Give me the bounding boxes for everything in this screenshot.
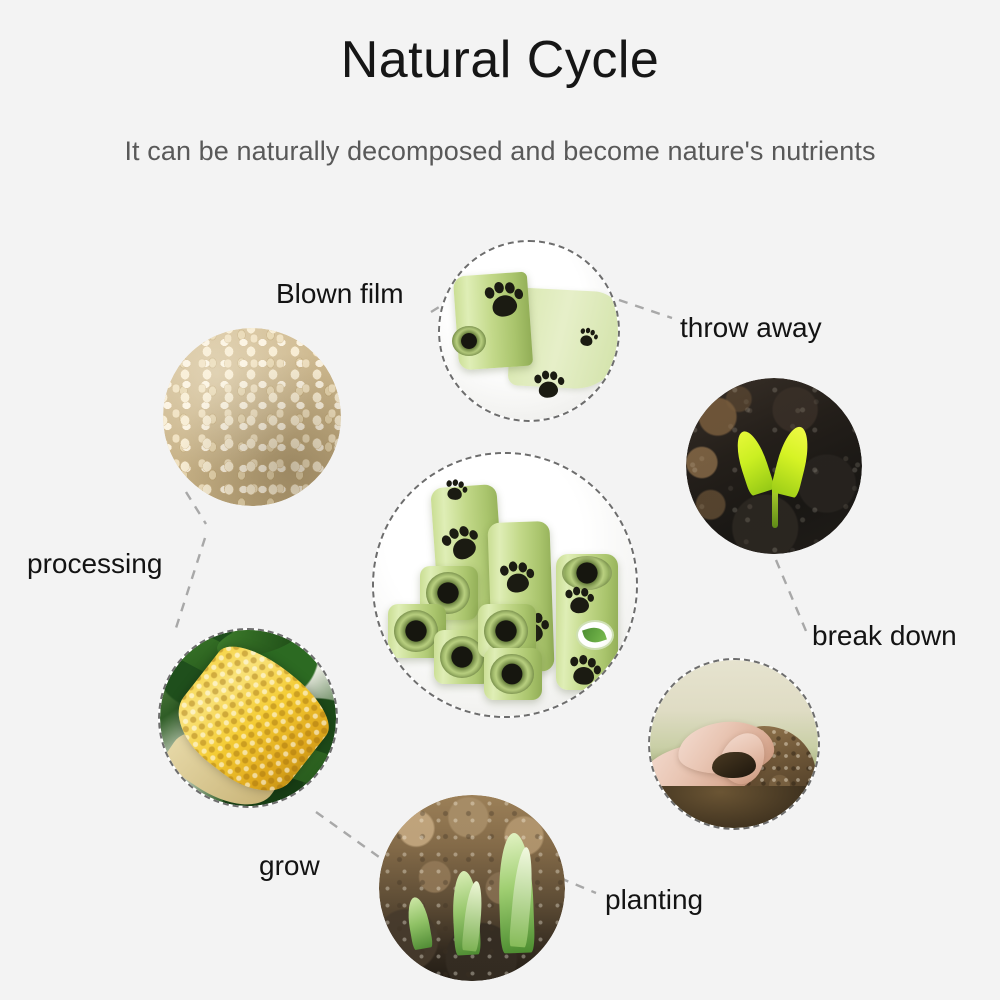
bag-roll-end	[562, 556, 612, 590]
node-blown-film-image[interactable]	[438, 240, 620, 422]
label-blown-film: Blown film	[276, 278, 404, 310]
pellets-photo	[163, 328, 341, 506]
bag-roll-end	[394, 610, 438, 652]
connector-node-to-planting-label	[560, 878, 596, 893]
node-break-down-image[interactable]	[648, 658, 820, 830]
grow-photo	[160, 630, 336, 806]
connector-throwaway-to-breakdown	[776, 560, 806, 631]
blown-film-photo	[440, 242, 618, 420]
label-break-down: break down	[812, 620, 957, 652]
soil-bed	[650, 786, 818, 828]
bag-roll-end	[484, 610, 528, 652]
node-grow-image[interactable]	[158, 628, 338, 808]
bag-roll-end	[452, 326, 486, 356]
page-title: Natural Cycle	[0, 32, 1000, 89]
eco-biodegradable-badge-icon	[576, 620, 614, 650]
connector-processing-to-corn	[176, 538, 205, 628]
label-grow: grow	[259, 850, 320, 882]
node-processing-image[interactable]	[163, 328, 341, 506]
node-planting-image[interactable]	[379, 795, 565, 981]
leaf-icon	[582, 624, 607, 646]
page-subtitle: It can be naturally decomposed and becom…	[0, 136, 1000, 167]
resin-pellets-texture	[163, 328, 341, 506]
connector-node-to-throwaway	[619, 300, 672, 318]
label-throw-away: throw away	[680, 312, 822, 344]
label-planting: planting	[605, 884, 703, 916]
planting-photo	[379, 795, 565, 981]
break-down-photo	[650, 660, 818, 828]
label-processing: processing	[27, 548, 162, 580]
connector-grow-to-planting	[316, 812, 386, 862]
node-center-product-image[interactable]	[372, 452, 638, 718]
center-product-photo	[374, 454, 636, 716]
node-throw-away-image[interactable]	[686, 378, 862, 554]
infographic-canvas: Natural Cycle It can be naturally decomp…	[0, 0, 1000, 1000]
soil-clump	[712, 752, 756, 778]
throw-away-photo	[686, 378, 862, 554]
bag-roll-end	[490, 654, 534, 694]
